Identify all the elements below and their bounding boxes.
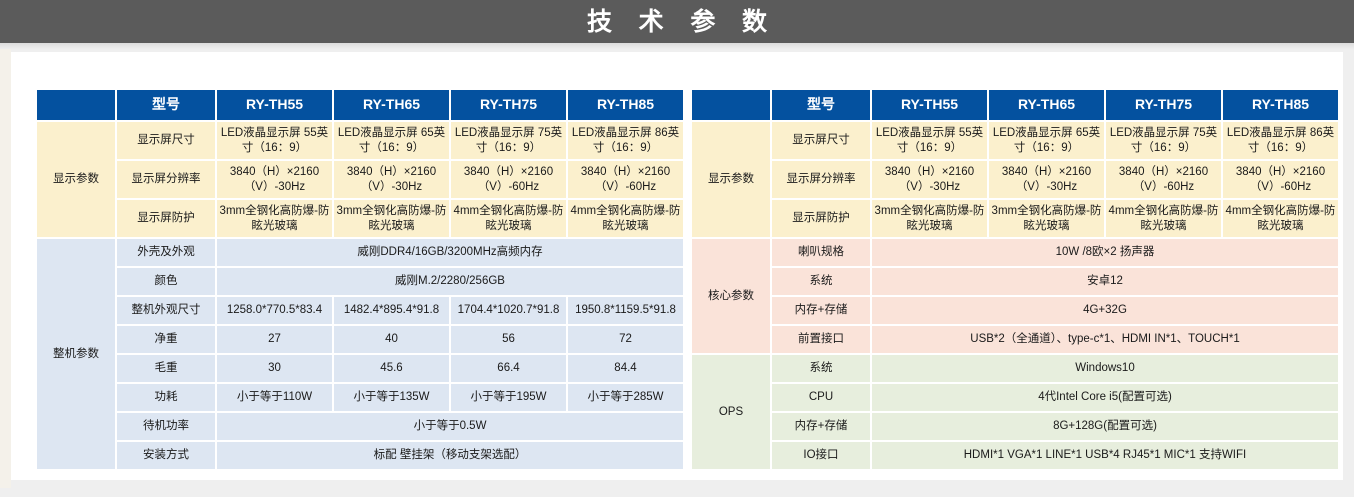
right-section-name-display: 显示参数 xyxy=(692,122,770,237)
row-label: 显示屏分辨率 xyxy=(117,161,215,198)
row-value: 3840（H）×2160（V）-60Hz xyxy=(1223,161,1338,198)
right-header-model-1: RY-TH65 xyxy=(989,90,1104,120)
row-value: 小于等于135W xyxy=(334,384,449,411)
row-value: 1950.8*1159.5*91.8 xyxy=(568,297,683,324)
row-label: 前置接口 xyxy=(772,326,870,353)
row-value-merged: 威刚M.2/2280/256GB xyxy=(217,268,683,295)
row-label: CPU xyxy=(772,384,870,411)
table-row: 显示屏分辨率 3840（H）×2160（V）-30Hz 3840（H）×2160… xyxy=(692,161,1338,198)
table-row: 系统 安卓12 xyxy=(692,268,1338,295)
row-value-merged: USB*2（全通道）、type-c*1、HDMI IN*1、TOUCH*1 xyxy=(872,326,1338,353)
left-section-name-machine: 整机参数 xyxy=(37,239,115,469)
page-title: 技 术 参 数 xyxy=(578,9,776,34)
row-value: 3mm全钢化高防爆-防眩光玻璃 xyxy=(334,200,449,237)
row-value: LED液晶显示屏 86英寸（16：9） xyxy=(1223,122,1338,159)
row-value-merged: HDMI*1 VGA*1 LINE*1 USB*4 RJ45*1 MIC*1 支… xyxy=(872,442,1338,469)
row-value-merged: 10W /8欧×2 扬声器 xyxy=(872,239,1338,266)
row-value: LED液晶显示屏 86英寸（16：9） xyxy=(568,122,683,159)
row-label: 整机外观尺寸 xyxy=(117,297,215,324)
row-label: 内存+存储 xyxy=(772,413,870,440)
row-value: 3840（H）×2160（V）-60Hz xyxy=(1106,161,1221,198)
table-row: 显示参数 显示屏尺寸 LED液晶显示屏 55英寸（16：9） LED液晶显示屏 … xyxy=(37,122,683,159)
row-value: 27 xyxy=(217,326,332,353)
page-left-strip xyxy=(0,43,11,488)
row-value: 1704.4*1020.7*91.8 xyxy=(451,297,566,324)
row-value: 3840（H）×2160（V）-30Hz xyxy=(334,161,449,198)
row-value: 3mm全钢化高防爆-防眩光玻璃 xyxy=(872,200,987,237)
left-section-name-display: 显示参数 xyxy=(37,122,115,237)
table-row: 净重 27 40 56 72 xyxy=(37,326,683,353)
row-label: 显示屏防护 xyxy=(772,200,870,237)
left-header-model-label: 型号 xyxy=(117,90,215,120)
table-row: 毛重 30 45.6 66.4 84.4 xyxy=(37,355,683,382)
table-row: 内存+存储 4G+32G xyxy=(692,297,1338,324)
row-value: 3840（H）×2160（V）-60Hz xyxy=(451,161,566,198)
row-value: 3840（H）×2160（V）-30Hz xyxy=(217,161,332,198)
row-value-merged: 4代Intel Core i5(配置可选) xyxy=(872,384,1338,411)
left-header-model-0: RY-TH55 xyxy=(217,90,332,120)
right-spec-table: 型号 RY-TH55 RY-TH65 RY-TH75 RY-TH85 显示参数 … xyxy=(690,88,1340,471)
row-value: LED液晶显示屏 75英寸（16：9） xyxy=(451,122,566,159)
row-value: 56 xyxy=(451,326,566,353)
right-header-model-label: 型号 xyxy=(772,90,870,120)
row-value: LED液晶显示屏 55英寸（16：9） xyxy=(217,122,332,159)
row-value-merged: 标配 壁挂架（移动支架选配） xyxy=(217,442,683,469)
row-value: 小于等于195W xyxy=(451,384,566,411)
row-value: 66.4 xyxy=(451,355,566,382)
row-value-merged: Windows10 xyxy=(872,355,1338,382)
row-value: 30 xyxy=(217,355,332,382)
row-value: LED液晶显示屏 65英寸（16：9） xyxy=(334,122,449,159)
row-label: IO接口 xyxy=(772,442,870,469)
table-row: IO接口 HDMI*1 VGA*1 LINE*1 USB*4 RJ45*1 MI… xyxy=(692,442,1338,469)
row-value-merged: 安卓12 xyxy=(872,268,1338,295)
table-row: 内存+存储 8G+128G(配置可选) xyxy=(692,413,1338,440)
right-header-model-3: RY-TH85 xyxy=(1223,90,1338,120)
table-row: CPU 4代Intel Core i5(配置可选) xyxy=(692,384,1338,411)
table-row: 颜色 威刚M.2/2280/256GB xyxy=(37,268,683,295)
row-label: 毛重 xyxy=(117,355,215,382)
spec-sheet-page: 技 术 参 数 型号 RY-TH55 RY-TH65 RY-TH75 RY-TH… xyxy=(0,0,1354,497)
row-value-merged: 8G+128G(配置可选) xyxy=(872,413,1338,440)
row-label: 内存+存储 xyxy=(772,297,870,324)
row-value: 72 xyxy=(568,326,683,353)
row-label: 外壳及外观 xyxy=(117,239,215,266)
row-value: 1258.0*770.5*83.4 xyxy=(217,297,332,324)
left-header-model-2: RY-TH75 xyxy=(451,90,566,120)
table-row: 安装方式 标配 壁挂架（移动支架选配） xyxy=(37,442,683,469)
row-value: 4mm全钢化高防爆-防眩光玻璃 xyxy=(451,200,566,237)
table-row: OPS 系统 Windows10 xyxy=(692,355,1338,382)
row-label: 安装方式 xyxy=(117,442,215,469)
table-row: 功耗 小于等于110W 小于等于135W 小于等于195W 小于等于285W xyxy=(37,384,683,411)
left-header-model-1: RY-TH65 xyxy=(334,90,449,120)
row-value: 4mm全钢化高防爆-防眩光玻璃 xyxy=(568,200,683,237)
right-header-model-0: RY-TH55 xyxy=(872,90,987,120)
row-label: 功耗 xyxy=(117,384,215,411)
left-header-blank xyxy=(37,90,115,120)
right-table-header-row: 型号 RY-TH55 RY-TH65 RY-TH75 RY-TH85 xyxy=(692,90,1338,120)
row-value: 小于等于110W xyxy=(217,384,332,411)
row-label: 颜色 xyxy=(117,268,215,295)
table-row: 显示屏分辨率 3840（H）×2160（V）-30Hz 3840（H）×2160… xyxy=(37,161,683,198)
row-label: 系统 xyxy=(772,268,870,295)
left-header-model-3: RY-TH85 xyxy=(568,90,683,120)
row-value: 4mm全钢化高防爆-防眩光玻璃 xyxy=(1223,200,1338,237)
right-header-model-2: RY-TH75 xyxy=(1106,90,1221,120)
row-value-merged: 威刚DDR4/16GB/3200MHz高频内存 xyxy=(217,239,683,266)
row-value: 小于等于285W xyxy=(568,384,683,411)
table-row: 整机外观尺寸 1258.0*770.5*83.4 1482.4*895.4*91… xyxy=(37,297,683,324)
page-banner: 技 术 参 数 xyxy=(0,0,1354,43)
row-label: 系统 xyxy=(772,355,870,382)
table-row: 整机参数 外壳及外观 威刚DDR4/16GB/3200MHz高频内存 xyxy=(37,239,683,266)
row-value-merged: 小于等于0.5W xyxy=(217,413,683,440)
table-row: 前置接口 USB*2（全通道）、type-c*1、HDMI IN*1、TOUCH… xyxy=(692,326,1338,353)
table-row: 显示参数 显示屏尺寸 LED液晶显示屏 55英寸（16：9） LED液晶显示屏 … xyxy=(692,122,1338,159)
row-value: 45.6 xyxy=(334,355,449,382)
right-header-blank xyxy=(692,90,770,120)
row-value: 4mm全钢化高防爆-防眩光玻璃 xyxy=(1106,200,1221,237)
row-label: 喇叭规格 xyxy=(772,239,870,266)
right-section-name-ops: OPS xyxy=(692,355,770,469)
table-row: 显示屏防护 3mm全钢化高防爆-防眩光玻璃 3mm全钢化高防爆-防眩光玻璃 4m… xyxy=(692,200,1338,237)
table-row: 显示屏防护 3mm全钢化高防爆-防眩光玻璃 3mm全钢化高防爆-防眩光玻璃 4m… xyxy=(37,200,683,237)
row-label: 显示屏尺寸 xyxy=(772,122,870,159)
banner-shadow xyxy=(0,43,1354,49)
row-value: 40 xyxy=(334,326,449,353)
row-value: 3mm全钢化高防爆-防眩光玻璃 xyxy=(217,200,332,237)
row-value: LED液晶显示屏 55英寸（16：9） xyxy=(872,122,987,159)
spec-tables-container: 型号 RY-TH55 RY-TH65 RY-TH75 RY-TH85 显示参数 … xyxy=(35,88,1320,471)
row-value: LED液晶显示屏 65英寸（16：9） xyxy=(989,122,1104,159)
row-label: 显示屏尺寸 xyxy=(117,122,215,159)
left-spec-table: 型号 RY-TH55 RY-TH65 RY-TH75 RY-TH85 显示参数 … xyxy=(35,88,685,471)
row-value: 3840（H）×2160（V）-30Hz xyxy=(989,161,1104,198)
row-label: 待机功率 xyxy=(117,413,215,440)
left-table-header-row: 型号 RY-TH55 RY-TH65 RY-TH75 RY-TH85 xyxy=(37,90,683,120)
row-value: 84.4 xyxy=(568,355,683,382)
row-value: 1482.4*895.4*91.8 xyxy=(334,297,449,324)
row-label: 显示屏分辨率 xyxy=(772,161,870,198)
row-value: 3840（H）×2160（V）-30Hz xyxy=(872,161,987,198)
row-label: 显示屏防护 xyxy=(117,200,215,237)
row-label: 净重 xyxy=(117,326,215,353)
row-value: 3mm全钢化高防爆-防眩光玻璃 xyxy=(989,200,1104,237)
row-value: LED液晶显示屏 75英寸（16：9） xyxy=(1106,122,1221,159)
row-value-merged: 4G+32G xyxy=(872,297,1338,324)
right-section-name-core: 核心参数 xyxy=(692,239,770,353)
table-row: 待机功率 小于等于0.5W xyxy=(37,413,683,440)
table-row: 核心参数 喇叭规格 10W /8欧×2 扬声器 xyxy=(692,239,1338,266)
row-value: 3840（H）×2160（V）-60Hz xyxy=(568,161,683,198)
